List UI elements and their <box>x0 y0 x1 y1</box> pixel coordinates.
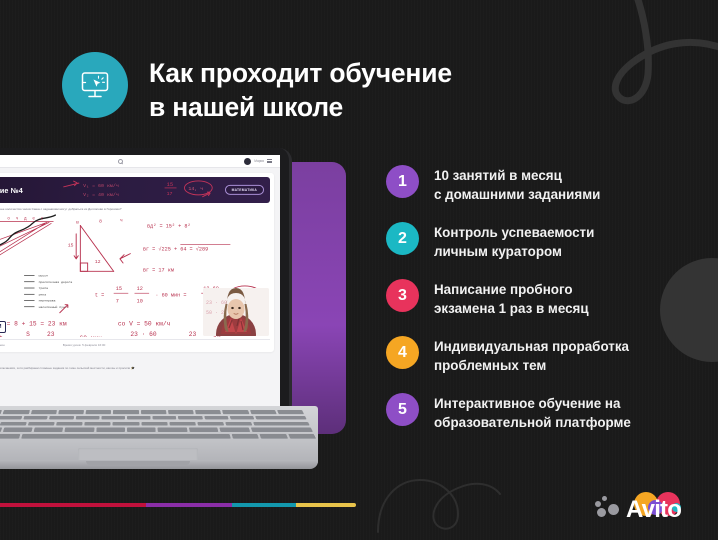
laptop-mockup: Образование Мария V₁ = 60 км/ч <box>0 148 386 468</box>
svg-text:t =: t = <box>0 335 11 337</box>
svg-text:8: 8 <box>99 218 102 224</box>
lesson-card: V₁ = 60 км/ч V₂ = 40 км/ч 15 17 14, ч За… <box>0 173 274 352</box>
list-item: 1 10 занятий в месяц с домашними задания… <box>386 164 686 204</box>
task-prompt: За какое наименьшее количество часов Саш… <box>0 207 269 211</box>
svg-text:12: 12 <box>137 286 143 292</box>
svg-text:12: 12 <box>95 259 101 265</box>
stripe-segment-2 <box>146 503 232 507</box>
user-name: Мария <box>254 159 264 163</box>
page-header: Как проходит обучение в нашей школе <box>62 52 452 125</box>
svg-text:17: 17 <box>167 191 173 197</box>
feature-list: 1 10 занятий в месяц с домашними задания… <box>386 164 686 432</box>
avatar[interactable] <box>244 158 251 165</box>
lesson-page: V₁ = 60 км/ч V₂ = 40 км/ч 15 17 14, ч За… <box>0 168 280 407</box>
decorative-squiggle-icon <box>372 474 502 534</box>
svg-text:10: 10 <box>137 299 143 305</box>
svg-text:15: 15 <box>68 242 74 248</box>
svg-text:вг = √225 + 64 = √289: вг = √225 + 64 = √289 <box>143 245 208 252</box>
svg-text:вг = 17 км: вг = 17 км <box>143 267 174 273</box>
premium-badge: МАСТЕР-ГРУППА PREMIUM <box>0 321 6 333</box>
screen-footnote: В сервис мы не исключаемся, хотя разбира… <box>0 352 274 371</box>
svg-text:· 60 мин =: · 60 мин = <box>155 292 186 298</box>
avito-logo: Avito <box>595 492 700 522</box>
svg-text:ч: ч <box>16 217 19 221</box>
svg-text:23: 23 <box>189 331 197 337</box>
list-item: 5 Интерактивное обучение на образователь… <box>386 392 686 432</box>
feature-text: Контроль успеваемости личным куратором <box>434 221 594 261</box>
svg-text:V₁ = 60 км/ч: V₁ = 60 км/ч <box>83 183 119 189</box>
svg-text:V₂ = 40 км/ч: V₂ = 40 км/ч <box>83 192 119 198</box>
svg-text:15: 15 <box>116 286 122 292</box>
laptop-screen: Образование Мария V₁ = 60 км/ч <box>0 155 280 407</box>
svg-text:е: е <box>32 217 35 221</box>
handwritten-work-area: всо чдес вса зк <box>0 213 270 337</box>
svg-text:шоссе: шоссе <box>39 274 48 278</box>
lesson-banner: V₁ = 60 км/ч V₂ = 40 км/ч 15 17 14, ч За… <box>0 177 270 203</box>
tutor-video-thumbnail[interactable]: 23 · 60 50 · 2 <box>203 288 269 336</box>
svg-text:23 · 60: 23 · 60 <box>206 300 227 306</box>
laptop-lid: Образование Мария V₁ = 60 км/ч <box>0 148 292 416</box>
stripe-segment-4 <box>296 503 356 507</box>
feature-text: Интерактивное обучение на образовательно… <box>434 392 631 432</box>
svg-text:в: в <box>76 220 79 225</box>
subject-badge: МАТЕМАТИКА <box>225 185 264 195</box>
svg-text:д: д <box>24 217 27 221</box>
list-item: 4 Индивидуальная проработка проблемных т… <box>386 335 686 375</box>
svg-text:просёлочная дорога: просёлочная дорога <box>39 280 73 284</box>
svg-text:15: 15 <box>167 181 174 188</box>
svg-text:14, ч: 14, ч <box>188 186 203 192</box>
svg-text:t =: t = <box>95 292 104 298</box>
platform-navbar: Образование Мария <box>0 155 280 168</box>
avito-wordmark: Avito <box>626 492 700 522</box>
stripe-segment-3 <box>232 503 296 507</box>
svg-text:S: S <box>26 331 30 337</box>
svg-text:о: о <box>7 217 10 221</box>
stripe-segment-1 <box>0 503 146 507</box>
svg-text:переправа: переправа <box>39 299 56 303</box>
feature-text: 10 занятий в месяц с домашними заданиями <box>434 164 600 204</box>
feature-number-badge: 4 <box>386 336 419 369</box>
svg-text:7: 7 <box>116 299 119 305</box>
monitor-cursor-icon <box>62 52 128 118</box>
svg-text:река: река <box>39 292 47 296</box>
svg-text:=: = <box>176 335 180 337</box>
svg-text:вд² = 15² + 8²: вд² = 15² + 8² <box>147 224 191 230</box>
search-icon <box>118 159 123 164</box>
laptop-keyboard <box>0 410 318 443</box>
svg-text:S = 8 + 15 = 23 км: S = 8 + 15 = 23 км <box>0 321 67 328</box>
feature-number-badge: 1 <box>386 165 419 198</box>
lesson-duration: Длительность: 40 мин <box>0 343 5 347</box>
list-item: 3 Написание пробного экзамена 1 раз в ме… <box>386 278 686 318</box>
feature-number-badge: 5 <box>386 393 419 426</box>
decorative-loop-icon <box>558 0 718 124</box>
lesson-date: Время урока: 5 февраля 16:00 <box>63 343 106 347</box>
svg-text:23 · 60: 23 · 60 <box>130 331 157 337</box>
feature-number-badge: 3 <box>386 279 419 312</box>
feature-text: Написание пробного экзамена 1 раз в меся… <box>434 278 589 318</box>
search-button[interactable] <box>1 159 239 164</box>
svg-text:50 · 2: 50 · 2 <box>206 310 224 316</box>
list-item: 2 Контроль успеваемости личным куратором <box>386 221 686 261</box>
svg-text:ч: ч <box>120 218 123 223</box>
lesson-title: Задание №4 <box>0 186 23 195</box>
hamburger-menu-icon[interactable] <box>267 159 272 163</box>
avito-text: Avito <box>626 498 700 522</box>
svg-text:тропа: тропа <box>39 286 48 290</box>
laptop-purple-edge <box>284 162 346 434</box>
svg-text:· 60 мин =: · 60 мин = <box>72 335 110 337</box>
color-stripe <box>0 503 356 507</box>
lesson-meta: Длительность: 40 мин Время урока: 5 февр… <box>0 339 270 347</box>
feature-number-badge: 2 <box>386 222 419 255</box>
laptop-base-notch <box>86 461 190 465</box>
premium-badge-main: PREMIUM <box>0 325 1 330</box>
page-title: Как проходит обучение в нашей школе <box>149 52 452 125</box>
svg-text:23: 23 <box>47 331 55 337</box>
svg-text:со V = 50 км/ч: со V = 50 км/ч <box>118 321 171 328</box>
avito-dots-icon <box>595 496 621 518</box>
feature-text: Индивидуальная проработка проблемных тем <box>434 335 629 375</box>
